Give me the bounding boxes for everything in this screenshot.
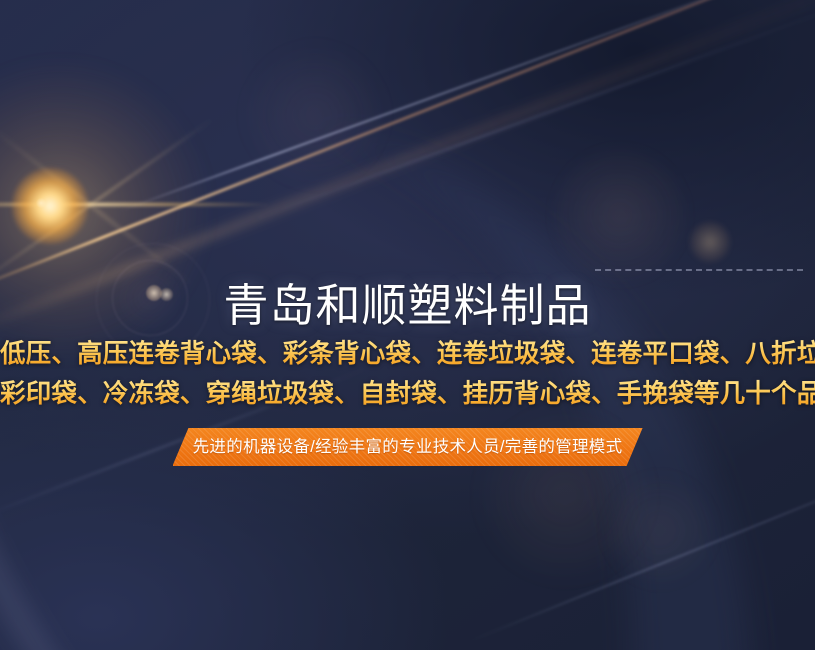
tagline-ribbon: 先进的机器设备/经验丰富的专业技术人员/完善的管理模式 [173, 428, 643, 466]
dashed-rule-decoration [595, 269, 803, 271]
tagline-ribbon-wrap: 先进的机器设备/经验丰富的专业技术人员/完善的管理模式 [0, 428, 815, 466]
title-row: 青岛和顺塑料制品 [0, 247, 815, 305]
tagline-text: 先进的机器设备/经验丰富的专业技术人员/完善的管理模式 [193, 428, 623, 466]
page-title: 青岛和顺塑料制品 [0, 277, 815, 335]
product-list-line-2: 彩印袋、冷冻袋、穿绳垃圾袋、自封袋、挂历背心袋、手挽袋等几十个品种 [0, 375, 815, 414]
banner-content: 青岛和顺塑料制品 低压、高压连卷背心袋、彩条背心袋、连卷垃圾袋、连卷平口袋、八折… [0, 0, 815, 650]
promo-banner: 青岛和顺塑料制品 低压、高压连卷背心袋、彩条背心袋、连卷垃圾袋、连卷平口袋、八折… [0, 0, 815, 650]
product-list-line-1: 低压、高压连卷背心袋、彩条背心袋、连卷垃圾袋、连卷平口袋、八折垃圾袋、 [0, 335, 815, 374]
